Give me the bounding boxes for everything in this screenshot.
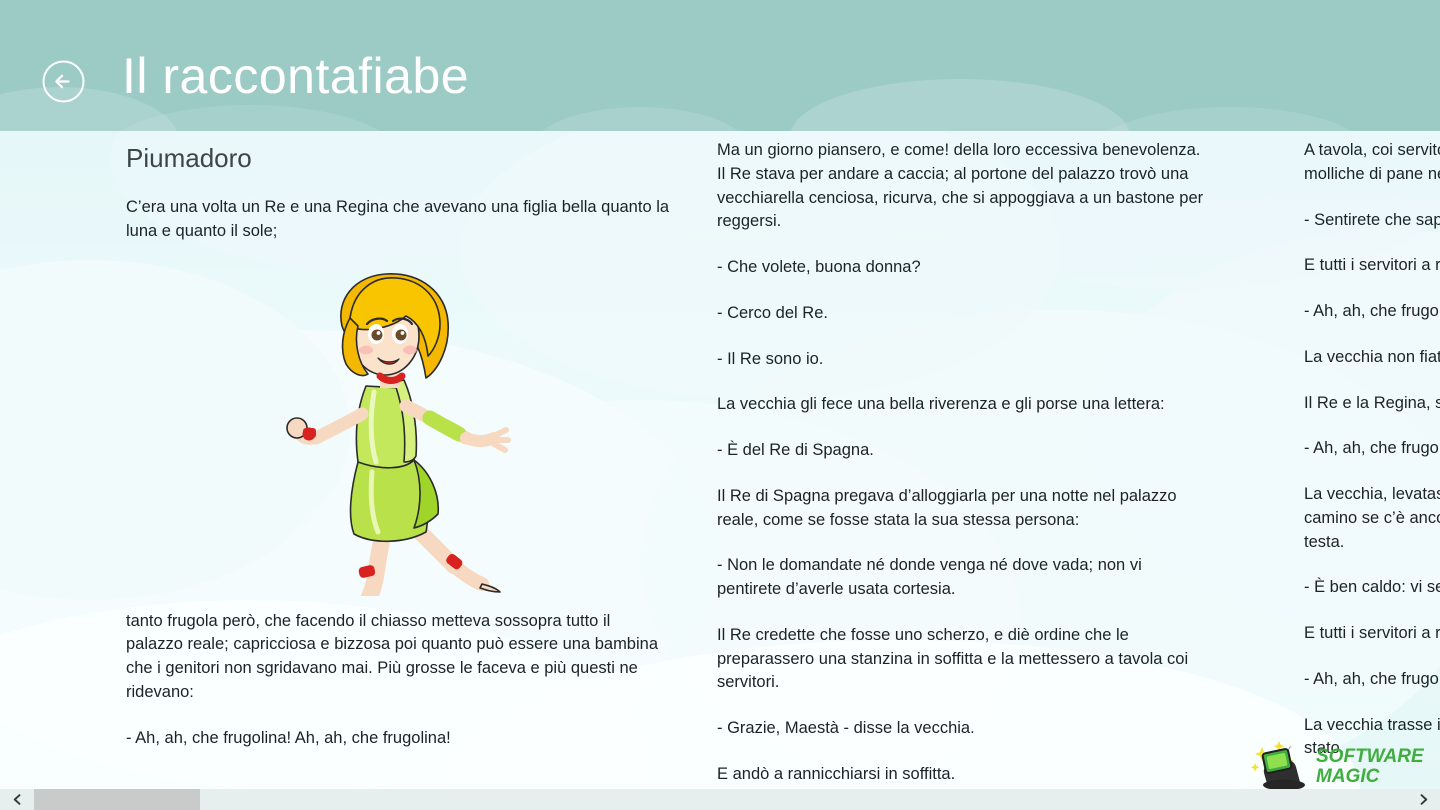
logo-line-1: SOFTWARE — [1316, 746, 1425, 767]
story-illustration — [126, 266, 671, 596]
arrow-left-circle-icon — [41, 59, 86, 104]
chevron-right-icon — [1418, 794, 1429, 805]
green-card-icon — [1262, 749, 1292, 774]
back-button[interactable] — [41, 59, 86, 104]
paragraph: - È del Re di Spagna. — [717, 439, 1204, 463]
text-column-1: Piumadoro C’era una volta un Re e una Re… — [126, 131, 671, 779]
scroll-right-button[interactable] — [1406, 789, 1440, 810]
paragraph: - Grazie, Maestà - disse la vecchia. — [717, 717, 1204, 741]
software-magic-logo: SOFTWARE MAGIC — [1246, 737, 1436, 789]
text-column-3: A tavola, coi servitori, quella frugolin… — [1304, 131, 1440, 779]
paragraph: - Cerco del Re. — [717, 302, 1204, 326]
paragraph: - Ah, ah, che frugolina! — [1304, 437, 1440, 461]
paragraph: Il Re e la Regina, saputo il fatto, ride… — [1304, 392, 1440, 416]
paragraph: - Ah, ah, che frugolina! Ah, ah, che fru… — [126, 727, 671, 751]
app-window: Il raccontafiabe Piumadoro C’era una vol… — [0, 0, 1440, 810]
paragraph: A tavola, coi servitori, quella frugolin… — [1304, 139, 1440, 187]
paragraph: La vecchia, levatasi da tavola, disse al… — [1304, 483, 1440, 554]
paragraph: E tutti i servitori a ridere. — [1304, 254, 1440, 278]
paragraph: Il Re credette che fosse uno scherzo, e … — [717, 624, 1204, 695]
paragraph: C’era una volta un Re e una Regina che a… — [126, 196, 671, 244]
horizontal-scrollbar[interactable] — [0, 789, 1440, 810]
page-title: Il raccontafiabe — [122, 46, 469, 106]
story-title: Piumadoro — [126, 143, 671, 174]
scroll-left-button[interactable] — [0, 789, 34, 810]
paragraph: tanto frugola però, che facendo il chias… — [126, 610, 671, 705]
story-content: Piumadoro C’era una volta un Re e una Re… — [0, 131, 1440, 779]
scrollbar-track[interactable] — [34, 789, 1406, 810]
paragraph: - È ben caldo: vi sento il calore! — [1304, 576, 1440, 600]
paragraph: - Ah, ah, che frugolina! — [1304, 300, 1440, 324]
paragraph: E andò a rannicchiarsi in soffitta. — [717, 763, 1204, 779]
paragraph: La vecchia gli fece una bella riverenza … — [717, 393, 1204, 417]
logo-line-2: MAGIC — [1316, 766, 1380, 787]
paragraph: - Il Re sono io. — [717, 348, 1204, 372]
paragraph: La vecchia non fiatò. — [1304, 346, 1440, 370]
chevron-left-icon — [12, 794, 23, 805]
app-header: Il raccontafiabe — [0, 0, 1440, 131]
fairy-girl-illustration — [254, 266, 544, 596]
paragraph: - Che volete, buona donna? — [717, 256, 1204, 280]
paragraph: E tutti i servitori a ridere. — [1304, 622, 1440, 646]
paragraph: Il Re di Spagna pregava d’alloggiarla pe… — [717, 485, 1204, 533]
paragraph: - Ah, ah, che frugolina! — [1304, 668, 1440, 692]
paragraph: - Non le domandate né donde venga né dov… — [717, 554, 1204, 602]
paragraph: Ma un giorno piansero, e come! della lor… — [717, 139, 1204, 234]
text-column-2: Ma un giorno piansero, e come! della lor… — [717, 131, 1204, 779]
scrollbar-thumb[interactable] — [34, 789, 200, 810]
paragraph: - Sentirete che sapore! — [1304, 209, 1440, 233]
